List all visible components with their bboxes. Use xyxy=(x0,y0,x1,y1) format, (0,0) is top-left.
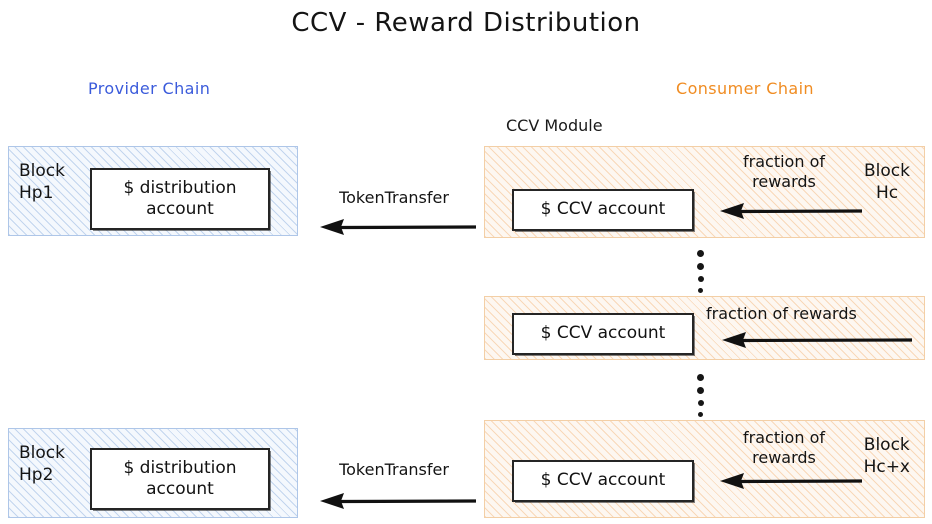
ccv-account-box[interactable]: $ CCV account xyxy=(512,313,694,355)
vertical-ellipsis xyxy=(697,250,704,293)
fraction-of-rewards-label: fraction of rewards xyxy=(714,428,854,468)
block-caption: Block Hc xyxy=(864,161,910,205)
ccv-module-label: CCV Module xyxy=(506,116,603,135)
distribution-account-box[interactable]: $ distribution account xyxy=(90,168,270,230)
page-title: CCV - Reward Distribution xyxy=(0,8,932,38)
block-caption: Block Hp1 xyxy=(19,161,65,205)
fraction-of-rewards-arrow xyxy=(720,470,862,492)
fraction-of-rewards-label: fraction of rewards xyxy=(706,304,921,324)
ccv-account-box[interactable]: $ CCV account xyxy=(512,189,694,231)
fraction-of-rewards-arrow xyxy=(722,329,912,351)
vertical-ellipsis xyxy=(697,374,704,417)
provider-chain-label: Provider Chain xyxy=(88,79,210,98)
distribution-account-box[interactable]: $ distribution account xyxy=(90,448,270,510)
token-transfer-arrow xyxy=(320,490,476,512)
token-transfer-label: TokenTransfer xyxy=(314,188,474,208)
token-transfer-label: TokenTransfer xyxy=(314,460,474,480)
fraction-of-rewards-label: fraction of rewards xyxy=(714,152,854,192)
block-caption: Block Hc+x xyxy=(864,435,910,479)
consumer-chain-label: Consumer Chain xyxy=(676,79,814,98)
token-transfer-arrow xyxy=(320,216,476,238)
ccv-account-box[interactable]: $ CCV account xyxy=(512,460,694,502)
block-caption: Block Hp2 xyxy=(19,443,65,487)
fraction-of-rewards-arrow xyxy=(720,200,862,222)
